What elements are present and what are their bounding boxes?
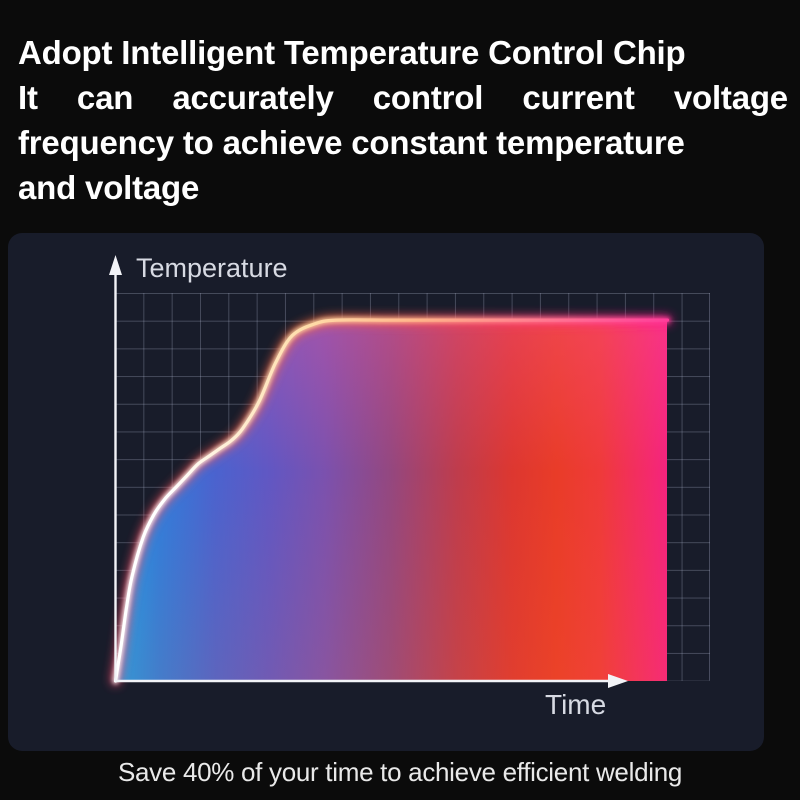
- headline-word: current: [522, 75, 634, 120]
- bottom-caption: Save 40% of your time to achieve efficie…: [0, 757, 800, 788]
- headline-line-4: and voltage: [18, 165, 790, 210]
- y-axis-arrow-head: [109, 255, 122, 275]
- chart-area-series: [115, 293, 667, 681]
- promo-page: Adopt Intelligent Temperature Control Ch…: [0, 0, 800, 800]
- headline-line-2: It can accurately control current voltag…: [18, 75, 788, 120]
- plot-area: [115, 293, 710, 681]
- x-axis-label: Time: [545, 689, 606, 721]
- headline-word: voltage: [674, 75, 788, 120]
- headline-word: It: [18, 75, 38, 120]
- headline-line-1: Adopt Intelligent Temperature Control Ch…: [18, 30, 790, 75]
- y-axis-label: Temperature: [136, 253, 288, 284]
- headline-word: control: [373, 75, 483, 120]
- chart-panel: Temperature Time: [8, 233, 764, 751]
- headline-line-3: frequency to achieve constant temperatur…: [18, 120, 790, 165]
- headline-block: Adopt Intelligent Temperature Control Ch…: [18, 30, 790, 210]
- headline-word: accurately: [172, 75, 333, 120]
- headline-word: can: [77, 75, 133, 120]
- temperature-area-fill: [115, 293, 667, 681]
